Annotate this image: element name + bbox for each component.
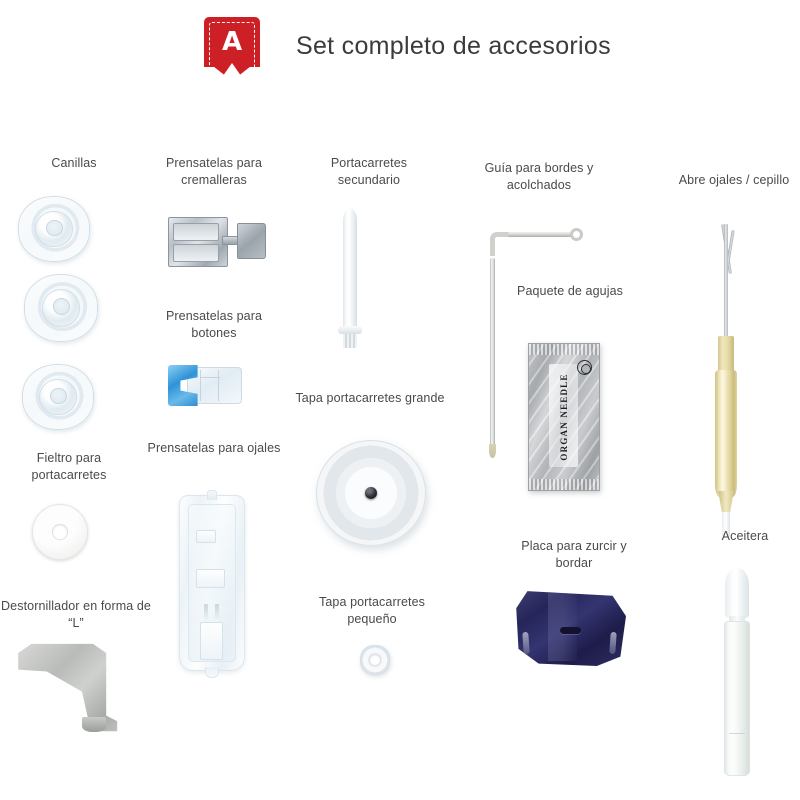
spool-cap-small-icon [360, 645, 390, 675]
spool-pin-collar [338, 326, 362, 334]
guide-rod-tip [489, 444, 496, 458]
spool-pin-icon [334, 208, 366, 348]
oiler-seam [729, 733, 744, 734]
plate-slot [560, 627, 581, 634]
screwdriver-tip [82, 717, 106, 732]
zipper-foot-slot [173, 223, 219, 240]
label-guia-bordes: Guía para bordes y acolchados [462, 160, 616, 194]
label-canillas: Canillas [0, 155, 148, 172]
label-destornillador: Destornillador en forma de “L” [0, 598, 152, 632]
l-screwdriver-icon [16, 642, 126, 734]
buttonhole-foot-icon [179, 495, 245, 671]
page-title: Set completo de accesorios [296, 32, 611, 61]
zipper-foot-shoe [237, 223, 266, 259]
oiler-body [724, 621, 751, 776]
buttonhole-foot-slider-block [196, 569, 225, 588]
bobbin-icon [18, 196, 90, 262]
buttonhole-foot-prong [215, 604, 219, 622]
buttonhole-foot-bottom-nub [205, 667, 218, 678]
button-foot-icon [168, 364, 242, 408]
package-crimp-top [529, 344, 599, 355]
accessory-set-poster: A Set completo de accesorios Canillas Fi… [0, 0, 800, 800]
label-paquete-agujas: Paquete de agujas [498, 283, 642, 300]
guide-vertical-rod [490, 258, 495, 452]
buttonhole-foot-slider-block [196, 530, 216, 542]
oiler-cap [725, 568, 749, 618]
label-aceitera: Aceitera [690, 528, 800, 545]
label-fieltro: Fieltro para portacarretes [0, 450, 138, 484]
label-tapa-grande: Tapa portacarretes grande [292, 390, 448, 407]
package-seal-icon [577, 360, 592, 375]
label-prensatelas-ojales: Prensatelas para ojales [146, 440, 282, 457]
guide-horizontal-arm [508, 232, 572, 237]
label-portacarretes-secundario: Portacarretes secundario [298, 155, 440, 189]
zipper-foot-slot [173, 244, 219, 261]
screwdriver-body [16, 642, 126, 734]
bobbin-icon [22, 364, 94, 430]
logo-letter: A [204, 29, 260, 55]
label-abre-ojales: Abre ojales / cepillo [668, 172, 800, 189]
oiler-bottle-icon [716, 568, 758, 776]
seam-ripper-brush-icon [706, 224, 746, 534]
label-placa-zurcir: Placa para zurcir y bordar [502, 538, 646, 572]
bobbin-icon [24, 274, 98, 342]
zipper-foot-icon [168, 212, 264, 274]
felt-washer-icon [32, 504, 88, 560]
header: A Set completo de accesorios [0, 0, 800, 105]
plate-tab-right [609, 631, 617, 653]
spool-pin-shaft [343, 208, 357, 328]
button-foot-detail-line [200, 377, 220, 378]
label-prensatelas-botones: Prensatelas para botones [146, 308, 282, 342]
button-foot-detail-line [200, 370, 201, 400]
seam-ripper-blade [724, 224, 728, 342]
brand-logo: A [204, 17, 260, 81]
plate-tab-left [522, 631, 530, 653]
label-tapa-pequeno: Tapa portacarretes pequeño [296, 594, 448, 628]
needle-package-icon: ORGAN NEEDLE [528, 343, 600, 491]
guide-loop-end [570, 228, 583, 241]
darning-plate-icon [514, 588, 626, 666]
package-brand-text: ORGAN NEEDLE [559, 373, 569, 460]
buttonhole-foot-base-block [200, 622, 222, 661]
label-prensatelas-cremalleras: Prensatelas para cremalleras [146, 155, 282, 189]
spool-cap-large-icon [316, 440, 426, 546]
buttonhole-foot-prong [204, 604, 208, 622]
package-crimp-bottom [529, 479, 599, 490]
button-foot-detail-line [218, 370, 219, 400]
ribbon-bookmark-icon: A [204, 17, 260, 81]
buttonhole-foot-top-nub [207, 490, 218, 500]
seam-ripper-handle [715, 370, 737, 497]
spool-pin-ribbed-base [343, 334, 357, 348]
